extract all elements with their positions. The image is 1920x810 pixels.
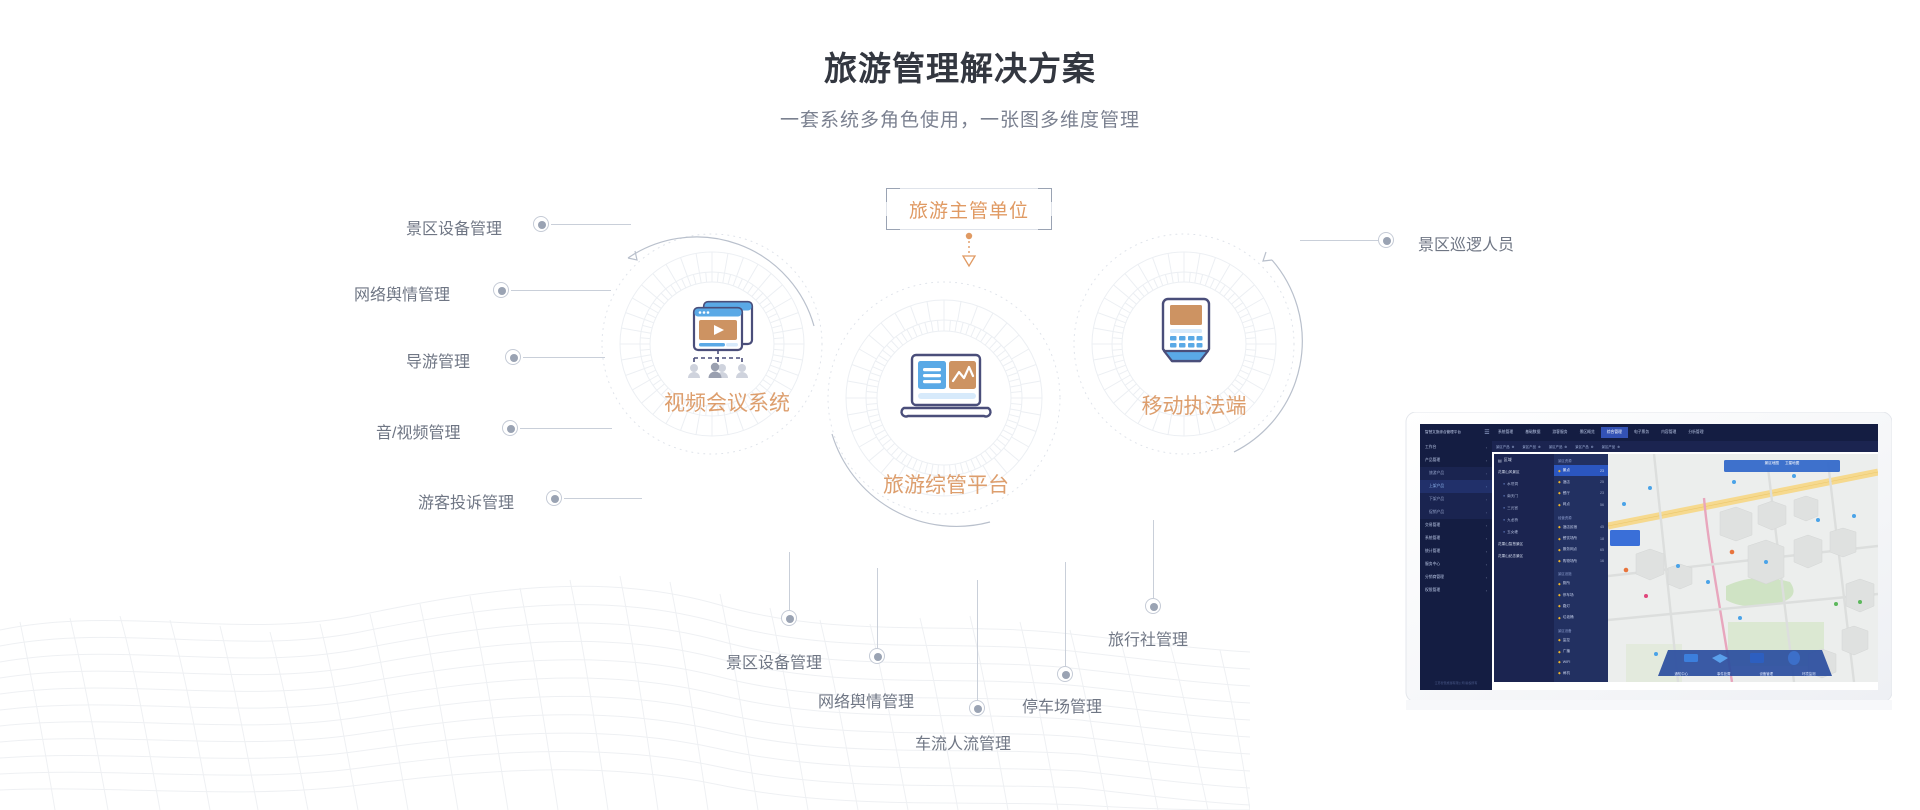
chevron-icon: › (1486, 459, 1487, 463)
dashboard-tab[interactable]: 景区产品⊗ (1575, 444, 1593, 449)
sidebar-item-label: 下架产品 (1429, 497, 1444, 502)
bottom-label-2: 车流人流管理 (915, 730, 1011, 754)
resource-count: 25 (1600, 480, 1604, 484)
right-node-dot-0[interactable] (1378, 232, 1394, 248)
left-leader-4 (564, 498, 642, 499)
resource-item[interactable]: ◆餐饮场所18 (1554, 533, 1608, 544)
resource-name: 网点 (1563, 502, 1598, 507)
dashboard-nav-item[interactable]: 游客服务 (1546, 427, 1573, 438)
node-label-mobile-enforcement: 移动执法端 (1118, 390, 1270, 420)
left-leader-1 (511, 290, 611, 291)
resource-name: 停车场 (1563, 593, 1602, 598)
resource-name: WIFI (1563, 660, 1602, 664)
resource-icon: ◆ (1558, 660, 1561, 664)
tree-panel-title: 区域 (1504, 457, 1512, 463)
dashboard-tree-panel: ▤ 区域 花果山风景区●水帘洞●南天门●三元宫●九龙桥●玉女峰花果山智慧景区花果… (1494, 454, 1554, 682)
chevron-icon: › (1486, 511, 1487, 515)
sidebar-item-label: 上架产品 (1429, 484, 1444, 489)
close-icon[interactable]: ⊗ (1564, 445, 1567, 449)
resource-icon: ◆ (1558, 671, 1561, 675)
authority-label: 旅游主管单位 (909, 196, 1029, 223)
tree-item[interactable]: 花果山风景区 (1494, 466, 1554, 478)
sidebar-item-label: 产品管理 (1425, 458, 1440, 463)
dashboard-sidebar-item[interactable]: 下架产品› (1420, 493, 1492, 506)
left-node-dot-4[interactable] (546, 490, 562, 506)
chevron-icon: › (1486, 472, 1487, 476)
resource-name: 闸机 (1563, 671, 1602, 676)
dashboard-sidebar-item[interactable]: 促销产品› (1420, 506, 1492, 519)
map-dock-item[interactable]: 环境监测 (1802, 671, 1816, 676)
resource-icon: ◆ (1558, 593, 1561, 597)
page-subtitle: 一套系统多角色使用，一张图多维度管理 (0, 105, 1920, 132)
resource-item[interactable]: ◆广播 (1554, 646, 1608, 657)
dashboard-tab[interactable]: 景区产品⊗ (1549, 444, 1567, 449)
dashboard-sidebar-item[interactable]: 权限管理› (1420, 584, 1492, 597)
dashboard-sidebar-item[interactable]: 上架产品› (1420, 480, 1492, 493)
chevron-icon: › (1486, 485, 1487, 489)
left-leader-3 (520, 428, 612, 429)
resource-name: 购物场所 (1563, 559, 1598, 564)
box-edge-right (1051, 202, 1052, 216)
close-icon[interactable]: ⊗ (1617, 445, 1620, 449)
box-edge-top (900, 188, 1038, 189)
tree-item[interactable]: ●水帘洞 (1494, 478, 1554, 490)
bottom-node-dot-0[interactable] (781, 610, 797, 626)
left-node-dot-2[interactable] (505, 349, 521, 365)
dashboard-sidebar-item[interactable]: 旅游产品› (1420, 467, 1492, 480)
bottom-leader-2 (977, 580, 978, 700)
chevron-icon: › (1486, 446, 1487, 450)
resource-item[interactable]: ◆垃圾桶 (1554, 612, 1608, 623)
tab-label: 景区产品 (1522, 444, 1536, 449)
tree-item-label: 玉女峰 (1507, 530, 1518, 535)
bottom-label-4: 旅行社管理 (1108, 626, 1188, 650)
tree-item-label: 花果山智慧景区 (1498, 542, 1523, 547)
infographic-page: 旅游管理解决方案 一套系统多角色使用，一张图多维度管理 旅游主管单位 (0, 0, 1920, 810)
bottom-leader-3 (1065, 562, 1066, 666)
page-title: 旅游管理解决方案 (0, 42, 1920, 90)
dashboard-tabstrip: 景区产品⊗景区产品⊗景区产品⊗景区产品⊗景区产品⊗ (1492, 441, 1878, 452)
map-canvas (1608, 454, 1878, 682)
left-label-4: 游客投诉管理 (418, 489, 514, 513)
dashboard-nav-list: 系统管理基础数据游客服务景区概览综合管理电子票务内容管理分析管理 (1492, 427, 1878, 438)
map-dock-item[interactable]: 通知中心 (1674, 671, 1688, 676)
resource-item[interactable]: ◆餐厅23 (1554, 488, 1608, 499)
dashboard-nav-item[interactable]: 系统管理 (1492, 427, 1519, 438)
tree-item[interactable]: 花果山纪念景区 (1494, 550, 1554, 562)
tree-item-label: 九龙桥 (1507, 518, 1518, 523)
resource-count: 56 (1600, 503, 1604, 507)
tree-item-label: 南天门 (1507, 494, 1518, 499)
laptop-base (1358, 700, 1892, 757)
close-icon[interactable]: ⊗ (1538, 445, 1541, 449)
resource-name: 垃圾桶 (1563, 615, 1602, 620)
tree-item[interactable]: ●三元宫 (1494, 502, 1554, 514)
handheld-terminal-icon (1158, 295, 1214, 377)
chevron-icon: › (1486, 537, 1487, 541)
resource-count: 23 (1600, 469, 1604, 473)
left-leader-2 (523, 357, 605, 358)
left-node-dot-3[interactable] (502, 420, 518, 436)
resource-icon: ◆ (1558, 548, 1561, 552)
chevron-icon: › (1486, 524, 1487, 528)
map-button[interactable]: 卫星地图 (1785, 461, 1799, 466)
left-leader-0 (551, 224, 631, 225)
bullet-icon: ● (1503, 482, 1505, 486)
bottom-label-0: 景区设备管理 (726, 649, 822, 673)
dashboard-nav-item[interactable]: 电子票务 (1628, 427, 1655, 438)
bottom-node-dot-3[interactable] (1057, 666, 1073, 682)
resource-icon: ◆ (1558, 503, 1561, 507)
grid-icon: ▤ (1498, 458, 1502, 463)
close-icon[interactable]: ⊗ (1591, 445, 1594, 449)
resource-icon: ◆ (1558, 469, 1561, 473)
dashboard-tab[interactable]: 景区产品⊗ (1602, 444, 1620, 449)
authority-box: 旅游主管单位 (886, 188, 1052, 230)
tree-item[interactable]: 花果山智慧景区 (1494, 538, 1554, 550)
resource-item[interactable]: ◆服务网点65 (1554, 544, 1608, 555)
dashboard-footer: 江苏智慧旅游有限公司 版权所有 (1424, 681, 1488, 686)
resource-item[interactable]: ◆酒店25 (1554, 476, 1608, 487)
map-button-group[interactable]: 景区地图卫星地图 (1726, 461, 1838, 466)
sidebar-item-label: 促销产品 (1429, 510, 1444, 515)
dashboard-nav-item[interactable]: 景区概览 (1574, 427, 1601, 438)
resource-count: 16 (1600, 559, 1604, 563)
sidebar-item-label: 分销商管理 (1425, 575, 1444, 580)
tree-item-label: 三元宫 (1507, 506, 1518, 511)
resource-item[interactable]: ◆酒店民宿45 (1554, 522, 1608, 533)
bottom-leader-4 (1153, 520, 1154, 598)
resource-name: 路灯 (1563, 604, 1602, 609)
resource-count: 45 (1600, 525, 1604, 529)
resource-icon: ◆ (1558, 537, 1561, 541)
resource-name: 酒店民宿 (1563, 525, 1598, 530)
dashboard-sidebar-item[interactable]: 产品管理› (1420, 454, 1492, 467)
resource-item[interactable]: ◆网点56 (1554, 499, 1608, 510)
dashboard-resource-panel: 景区资源◆景点23◆酒店25◆餐厅23◆网点56经营资源◆酒店民宿45◆餐饮场所… (1554, 454, 1608, 682)
resource-icon: ◆ (1558, 491, 1561, 495)
resource-icon: ◆ (1558, 525, 1561, 529)
resource-group-title: 景区设备 (1554, 624, 1608, 635)
dashboard-sidebar-item[interactable]: 工作台› (1420, 441, 1492, 454)
box-edge-bottom (900, 229, 1038, 230)
resource-group-title: 景区设施 (1554, 567, 1608, 578)
dashboard-nav-item[interactable]: 内容管理 (1655, 427, 1682, 438)
dashboard-nav-item[interactable]: 综合管理 (1601, 427, 1628, 438)
resource-group-title: 景区资源 (1554, 454, 1608, 465)
sidebar-item-label: 统计管理 (1425, 549, 1440, 554)
resource-group-title: 经营资源 (1554, 511, 1608, 522)
resource-item[interactable]: ◆停车场 (1554, 589, 1608, 600)
corner-top-left (886, 188, 900, 202)
bottom-leader-1 (877, 568, 878, 648)
dashboard-screen: 智慧文旅综合管理平台 ☰ 系统管理基础数据游客服务景区概览综合管理电子票务内容管… (1420, 424, 1878, 690)
left-node-dot-0[interactable] (533, 216, 549, 232)
resource-icon: ◆ (1558, 616, 1561, 620)
tree-item-label: 花果山纪念景区 (1498, 554, 1523, 559)
tab-label: 景区产品 (1575, 444, 1589, 449)
resource-count: 23 (1600, 491, 1604, 495)
map-dock-item[interactable]: 设备管理 (1759, 671, 1773, 676)
background-mesh-decoration (0, 510, 1250, 810)
sidebar-item-label: 旅游产品 (1429, 471, 1444, 476)
chevron-icon: › (1486, 563, 1487, 567)
map-dock[interactable]: 通知中心事件处置设备管理环境监测 (1660, 671, 1830, 676)
tab-label: 景区产品 (1549, 444, 1563, 449)
dashboard-tab[interactable]: 景区产品⊗ (1496, 444, 1514, 449)
left-label-0: 景区设备管理 (406, 215, 502, 239)
resource-item[interactable]: ◆厕所 (1554, 578, 1608, 589)
dashboard-map[interactable]: 景区地图卫星地图 通知中心事件处置设备管理环境监测 (1608, 454, 1878, 682)
dashboard-sidebar-item[interactable]: 服务中心› (1420, 558, 1492, 571)
resource-count: 18 (1600, 537, 1604, 541)
resource-item[interactable]: ◆监控 (1554, 635, 1608, 646)
resource-name: 餐厅 (1563, 491, 1598, 496)
resource-name: 服务网点 (1563, 547, 1598, 552)
tree-item[interactable]: ●南天门 (1494, 490, 1554, 502)
bottom-label-1: 网络舆情管理 (818, 688, 914, 712)
resource-icon: ◆ (1558, 604, 1561, 608)
right-leader-0 (1300, 240, 1378, 241)
chevron-icon: › (1486, 550, 1487, 554)
tree-item-list: 花果山风景区●水帘洞●南天门●三元宫●九龙桥●玉女峰花果山智慧景区花果山纪念景区 (1494, 466, 1554, 562)
tree-item-label: 花果山风景区 (1498, 470, 1520, 475)
resource-icon: ◆ (1558, 480, 1561, 484)
tree-item-label: 水帘洞 (1507, 482, 1518, 487)
bottom-leader-0 (789, 552, 790, 610)
left-label-2: 导游管理 (406, 348, 470, 372)
laptop-dashboard-icon (898, 352, 994, 424)
chevron-icon: › (1486, 589, 1487, 593)
resource-icon: ◆ (1558, 638, 1561, 642)
resource-name: 广播 (1563, 649, 1602, 654)
resource-name: 厕所 (1563, 581, 1602, 586)
dashboard-brand: 智慧文旅综合管理平台 (1420, 430, 1482, 435)
map-button[interactable]: 景区地图 (1765, 461, 1779, 466)
resource-name: 餐饮场所 (1563, 536, 1598, 541)
dashboard-nav-item[interactable]: 基础数据 (1519, 427, 1546, 438)
chevron-icon: › (1486, 498, 1487, 502)
dashboard-sidebar: 工作台›产品管理›旅游产品›上架产品›下架产品›促销产品›交易管理›系统管理›统… (1420, 441, 1492, 690)
bullet-icon: ● (1503, 530, 1505, 534)
resource-item[interactable]: ◆WIFI (1554, 657, 1608, 667)
tab-label: 景区产品 (1496, 444, 1510, 449)
tree-item[interactable]: ●九龙桥 (1494, 514, 1554, 526)
bullet-icon: ● (1503, 506, 1505, 510)
corner-bottom-right (1038, 216, 1052, 230)
box-edge-left (886, 202, 887, 216)
left-node-dot-1[interactable] (493, 282, 509, 298)
close-icon[interactable]: ⊗ (1512, 445, 1515, 449)
hamburger-icon[interactable]: ☰ (1482, 429, 1492, 436)
node-label-video-conference: 视频会议系统 (662, 387, 792, 417)
left-label-3: 音/视频管理 (376, 419, 460, 443)
resource-icon: ◆ (1558, 582, 1561, 586)
dashboard-sidebar-item[interactable]: 系统管理› (1420, 532, 1492, 545)
bullet-icon: ● (1503, 518, 1505, 522)
dashboard-tab[interactable]: 景区产品⊗ (1522, 444, 1540, 449)
resource-item[interactable]: ◆路灯 (1554, 601, 1608, 612)
dashboard-sidebar-item[interactable]: 交易管理› (1420, 519, 1492, 532)
resource-item[interactable]: ◆购物场所16 (1554, 556, 1608, 567)
sidebar-item-label: 工作台 (1425, 445, 1436, 450)
dashboard-topnav: 智慧文旅综合管理平台 ☰ 系统管理基础数据游客服务景区概览综合管理电子票务内容管… (1420, 424, 1878, 441)
dashboard-sidebar-item[interactable]: 统计管理› (1420, 545, 1492, 558)
tree-item[interactable]: ●玉女峰 (1494, 526, 1554, 538)
resource-item[interactable]: ◆闸机 (1554, 668, 1608, 679)
corner-top-right (1038, 188, 1052, 202)
bottom-node-dot-2[interactable] (969, 700, 985, 716)
resource-name: 监控 (1563, 638, 1602, 643)
resource-count: 65 (1600, 548, 1604, 552)
sidebar-item-label: 系统管理 (1425, 536, 1440, 541)
video-window-icon (682, 294, 772, 379)
map-dock-item[interactable]: 事件处置 (1717, 671, 1731, 676)
resource-icon: ◆ (1558, 650, 1561, 654)
bottom-node-dot-4[interactable] (1145, 598, 1161, 614)
resource-icon: ◆ (1558, 559, 1561, 563)
sidebar-item-label: 交易管理 (1425, 523, 1440, 528)
right-label-0: 景区巡逻人员 (1418, 231, 1514, 255)
chevron-icon: › (1486, 576, 1487, 580)
bottom-label-3: 停车场管理 (1022, 693, 1102, 717)
resource-name: 酒店 (1563, 480, 1598, 485)
tab-label: 景区产品 (1602, 444, 1616, 449)
sidebar-item-label: 权限管理 (1425, 588, 1440, 593)
laptop-mockup: 智慧文旅综合管理平台 ☰ 系统管理基础数据游客服务景区概览综合管理电子票务内容管… (1358, 412, 1892, 757)
dashboard-sidebar-item[interactable]: 分销商管理› (1420, 571, 1492, 584)
left-label-1: 网络舆情管理 (354, 281, 450, 305)
tree-panel-title-row: ▤ 区域 (1494, 454, 1554, 466)
node-label-tourism-platform: 旅游综管平台 (876, 469, 1016, 499)
resource-item[interactable]: ◆景点23 (1554, 465, 1608, 476)
bullet-icon: ● (1503, 494, 1505, 498)
dashboard-nav-item[interactable]: 分析管理 (1682, 427, 1709, 438)
sidebar-item-label: 服务中心 (1425, 562, 1440, 567)
bottom-node-dot-1[interactable] (869, 648, 885, 664)
corner-bottom-left (886, 216, 900, 230)
resource-name: 景点 (1563, 468, 1598, 473)
